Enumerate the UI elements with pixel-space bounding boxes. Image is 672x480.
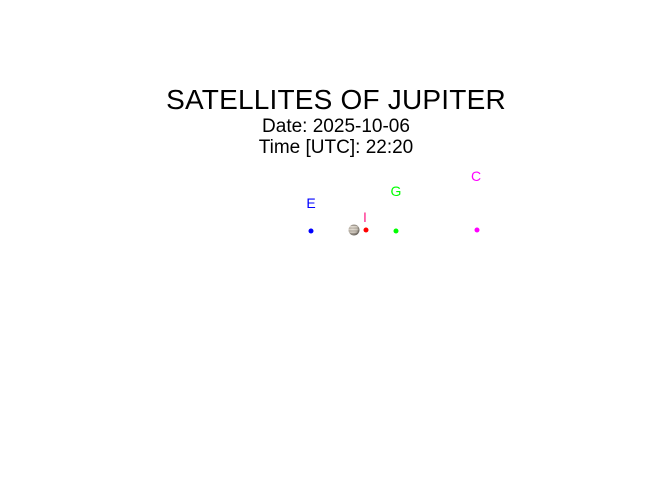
moon-label-io: I xyxy=(363,210,367,224)
moon-label-europa: E xyxy=(306,196,315,210)
moon-dot-io xyxy=(364,228,369,233)
sky-plot-area: EIGC xyxy=(0,0,672,480)
moon-dot-ganymede xyxy=(394,229,399,234)
jupiter-satellites-canvas: SATELLITES OF JUPITER Date: 2025-10-06 T… xyxy=(0,0,672,480)
jupiter-disk xyxy=(349,225,360,236)
moon-dot-europa xyxy=(309,229,314,234)
moon-label-callisto: C xyxy=(471,169,481,183)
moon-dot-callisto xyxy=(475,228,480,233)
moon-label-ganymede: G xyxy=(391,184,402,198)
